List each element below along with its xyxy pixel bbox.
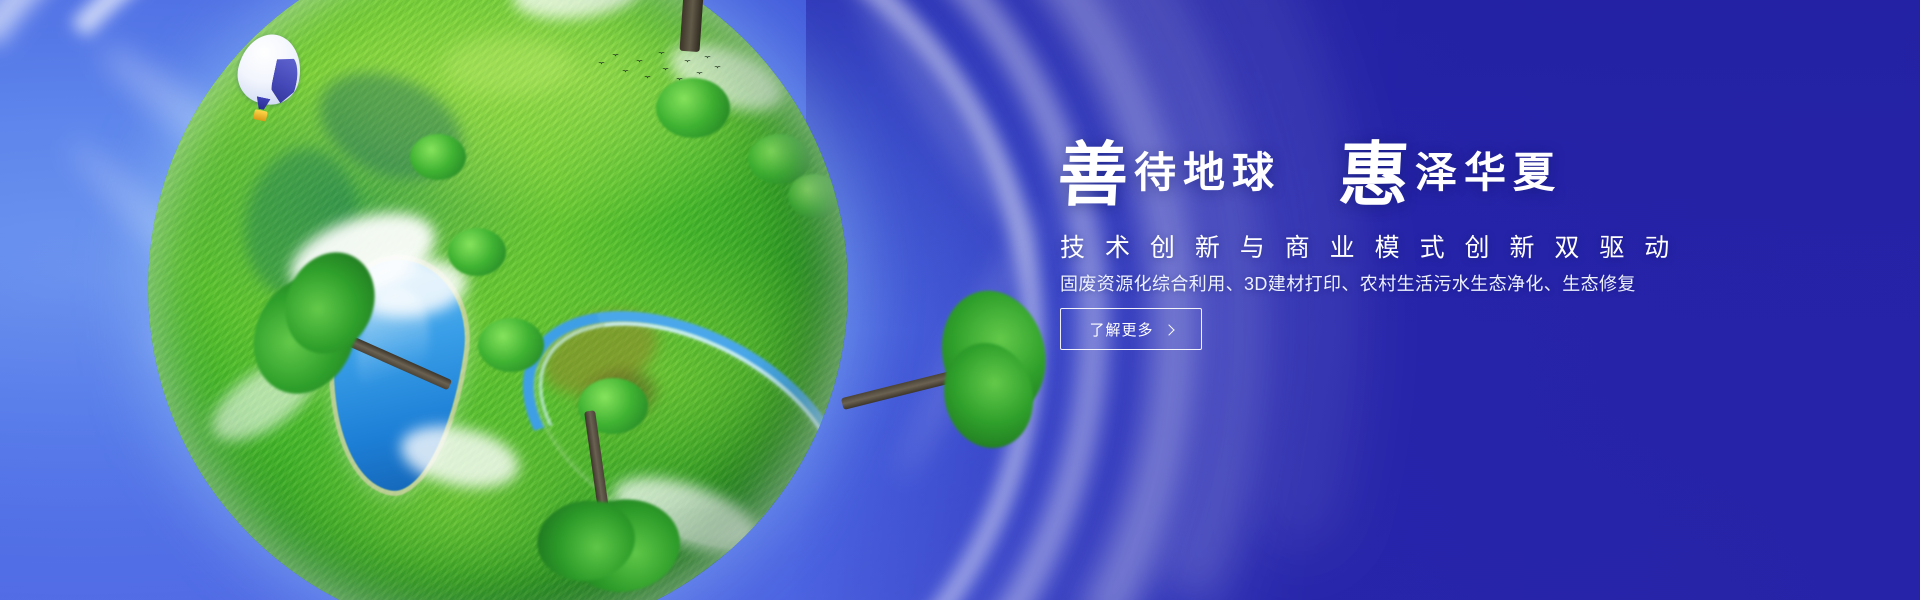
bird-icon [676,78,683,82]
headline: 善待地球惠泽华夏 [1058,140,1562,210]
headline-part1-small: 待地球 [1134,152,1281,194]
bird-icon [644,76,651,80]
learn-more-label: 了解更多 [1089,319,1153,340]
tree-bottom [506,397,701,600]
bird-icon [684,60,691,64]
hero-banner: 善待地球惠泽华夏 技 术 创 新 与 商 业 模 式 创 新 双 驱 动 固废资… [0,0,1920,600]
description: 固废资源化综合利用、3D建材打印、农村生活污水生态净化、生态修复 [1060,270,1636,296]
bird-icon [704,56,711,60]
bird-icon [598,62,605,66]
bird-icon [636,60,643,64]
tree-trunk [841,370,956,410]
tree-trunk [584,410,609,511]
chevron-right-icon [1163,324,1174,335]
bird-icon [696,72,703,76]
tree-trunk [345,335,452,391]
bird-icon [612,54,619,58]
subtitle: 技 术 创 新 与 商 业 模 式 创 新 双 驱 动 [1060,228,1676,264]
bird-icon [662,68,669,72]
headline-part2-big: 惠 [1337,140,1411,210]
learn-more-button[interactable]: 了解更多 [1060,308,1202,350]
bird-icon [714,66,721,70]
flock-of-birds [592,48,732,94]
bird-icon [658,52,665,56]
tree-trunk [679,0,711,52]
balloon-basket [253,109,268,121]
headline-part2-small: 泽华夏 [1415,152,1562,194]
hero-content: 善待地球惠泽华夏 技 术 创 新 与 商 业 模 式 创 新 双 驱 动 固废资… [1058,0,1758,600]
bird-icon [622,70,629,74]
headline-part1-big: 善 [1056,140,1130,210]
